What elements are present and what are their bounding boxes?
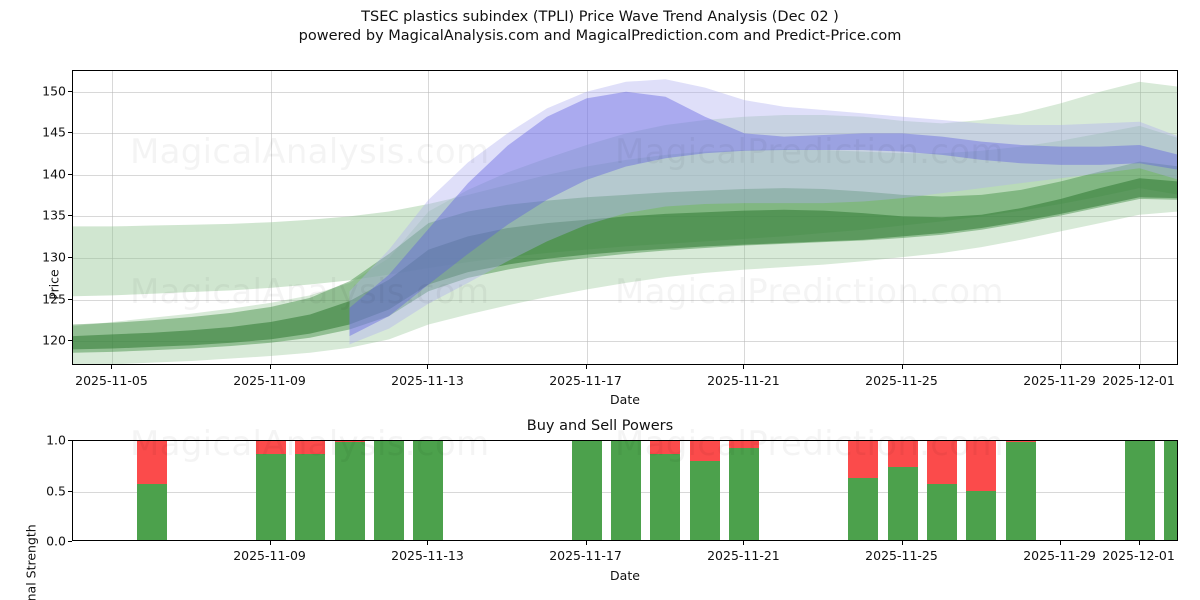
signal-strength-axis-label: Signal Strength [24,498,39,600]
y-tick-mark [68,215,72,216]
bar-segment-sell [650,440,680,454]
x-tick-label: 2025-11-09 [233,373,306,388]
bar-segment-sell [690,440,720,461]
y-tick-mark [68,257,72,258]
x-tick-label: 2025-12-01 [1102,373,1175,388]
chart-title-block: TSEC plastics subindex (TPLI) Price Wave… [0,8,1200,46]
bar-segment-buy [729,448,759,540]
bar-segment-buy [848,478,878,540]
powers-subplot-title: Buy and Sell Powers [0,418,1200,434]
price-wave-plot [72,70,1178,365]
bar-segment-buy [295,454,325,540]
y-tick-label: 135 [24,208,66,223]
bar-segment-sell [137,440,167,484]
bar-segment-buy [650,454,680,540]
y-tick-label: 0.0 [24,534,66,549]
x-tick-label: 2025-11-13 [391,373,464,388]
bar-stack[interactable] [137,440,167,540]
bar-segment-buy [888,467,918,540]
bar-segment-buy [137,484,167,540]
bar-stack[interactable] [256,440,286,540]
bar-segment-buy [374,440,404,540]
y-tick-mark [68,541,72,542]
bar-segment-sell [848,440,878,478]
chart-page: TSEC plastics subindex (TPLI) Price Wave… [0,0,1200,600]
bar-stack[interactable] [690,440,720,540]
y-tick-mark [68,440,72,441]
bar-segment-sell [256,440,286,454]
y-tick-label: 1.0 [24,433,66,448]
x-tick-mark [1060,541,1061,545]
bar-stack[interactable] [295,440,325,540]
bar-stack[interactable] [611,440,641,540]
x-tick-mark [586,541,587,545]
bar-stack[interactable] [848,440,878,540]
bar-segment-sell [966,440,996,491]
x-tick-mark [902,541,903,545]
y-tick-mark [68,491,72,492]
bar-segment-buy [413,440,443,540]
bar-stack[interactable] [1164,440,1178,540]
x-tick-label: 2025-11-09 [233,548,306,563]
y-tick-label: 140 [24,166,66,181]
bar-stack[interactable] [572,440,602,540]
price-xaxis-label: Date [610,392,640,407]
price-axis-label: Price [47,225,62,345]
x-tick-label: 2025-11-21 [707,548,780,563]
y-tick-mark [68,91,72,92]
bar-stack[interactable] [650,440,680,540]
x-tick-label: 2025-11-13 [391,548,464,563]
x-tick-label: 2025-11-25 [865,548,938,563]
bar-segment-buy [927,484,957,540]
y-tick-label: 0.5 [24,483,66,498]
x-tick-label: 2025-11-17 [549,373,622,388]
bar-stack[interactable] [927,440,957,540]
bar-stack[interactable] [729,440,759,540]
bar-segment-buy [966,491,996,540]
price-wave-bands [73,71,1178,365]
x-tick-mark [270,541,271,545]
x-tick-mark [111,365,112,369]
x-tick-mark [743,365,744,369]
bar-segment-buy [1164,440,1178,540]
bar-stack[interactable] [374,440,404,540]
bar-stack[interactable] [966,440,996,540]
bar-segment-sell [927,440,957,484]
bar-segment-buy [690,461,720,540]
x-tick-label: 2025-11-29 [1023,373,1096,388]
x-tick-mark [1139,365,1140,369]
y-tick-mark [68,299,72,300]
x-tick-label: 2025-11-29 [1023,548,1096,563]
page-title: TSEC plastics subindex (TPLI) Price Wave… [0,8,1200,27]
y-tick-mark [68,174,72,175]
bar-segment-buy [1125,440,1155,540]
buy-sell-powers-plot [72,440,1178,541]
bar-segment-sell [729,440,759,448]
y-tick-mark [68,132,72,133]
bar-segment-buy [256,454,286,540]
powers-xaxis-label: Date [610,568,640,583]
bar-segment-buy [572,440,602,540]
x-tick-mark [586,365,587,369]
bar-stack[interactable] [888,440,918,540]
y-tick-label: 125 [24,291,66,306]
y-tick-mark [68,340,72,341]
x-tick-label: 2025-11-17 [549,548,622,563]
x-tick-label: 2025-12-01 [1102,548,1175,563]
y-tick-label: 145 [24,125,66,140]
bar-segment-sell [295,440,325,454]
x-tick-mark [270,365,271,369]
x-tick-label: 2025-11-05 [75,373,148,388]
bar-segment-buy [611,440,641,540]
y-tick-label: 130 [24,249,66,264]
x-tick-mark [902,365,903,369]
bar-stack[interactable] [413,440,443,540]
x-tick-mark [743,541,744,545]
x-tick-label: 2025-11-25 [865,373,938,388]
y-tick-label: 150 [24,83,66,98]
bar-segment-buy [335,442,365,540]
x-tick-mark [1060,365,1061,369]
bar-segment-buy [1006,442,1036,540]
x-tick-label: 2025-11-21 [707,373,780,388]
x-tick-mark [427,541,428,545]
page-subtitle: powered by MagicalAnalysis.com and Magic… [0,27,1200,46]
bar-stack[interactable] [1125,440,1155,540]
x-tick-mark [1139,541,1140,545]
bar-segment-sell [888,440,918,467]
bar-stack[interactable] [1006,440,1036,540]
bar-stack[interactable] [335,440,365,540]
x-tick-mark [427,365,428,369]
y-tick-label: 120 [24,333,66,348]
